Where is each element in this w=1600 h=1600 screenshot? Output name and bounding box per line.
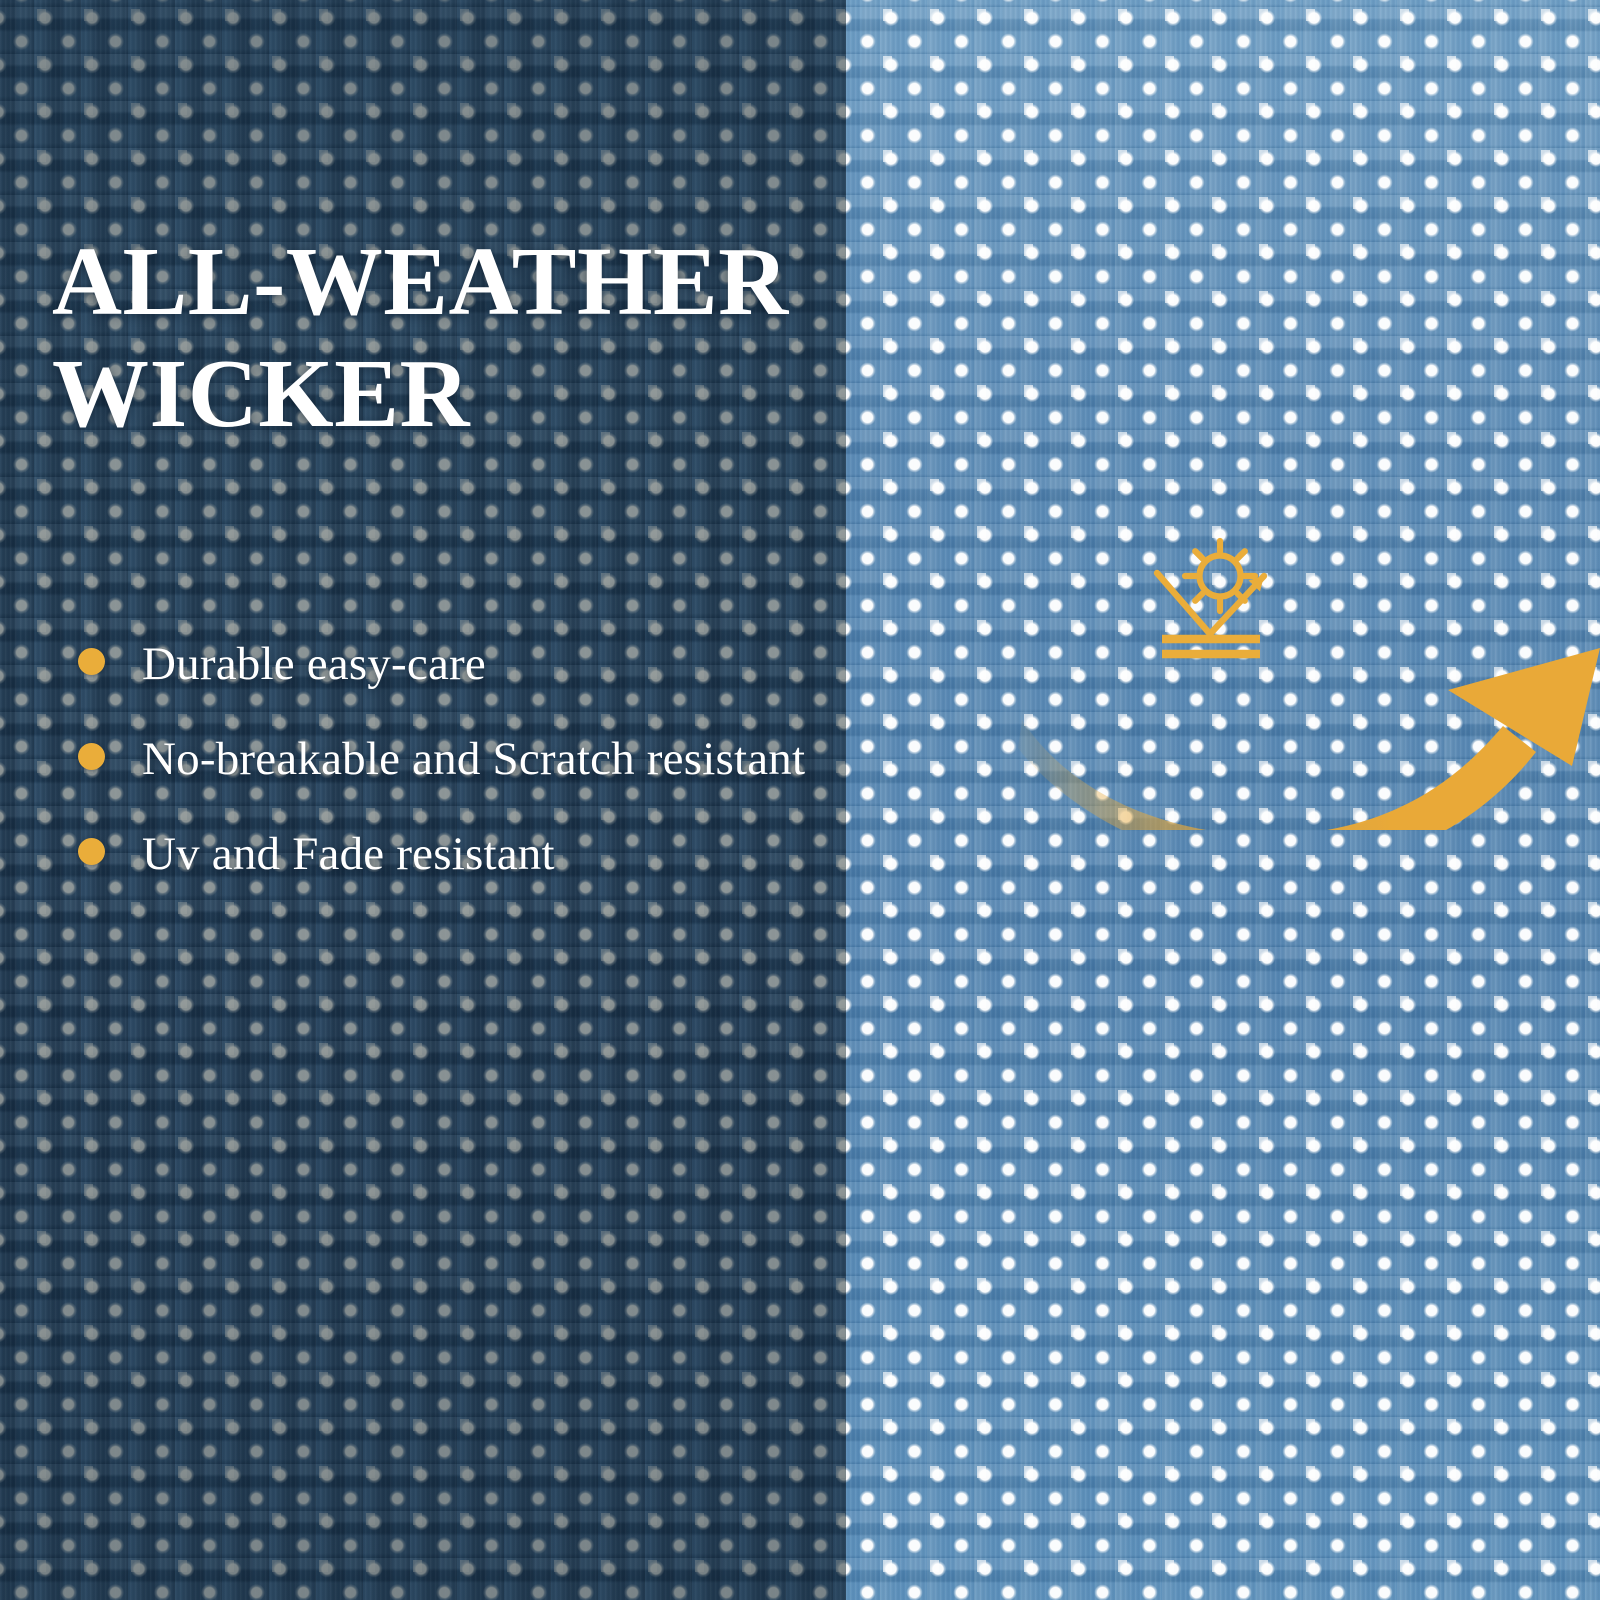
left-wicker-texture-panel [0, 0, 846, 1600]
promo-canvas: ALL-WEATHER WICKER Durable easy-care No-… [0, 0, 1600, 1600]
left-panel-scrim [0, 0, 846, 1600]
